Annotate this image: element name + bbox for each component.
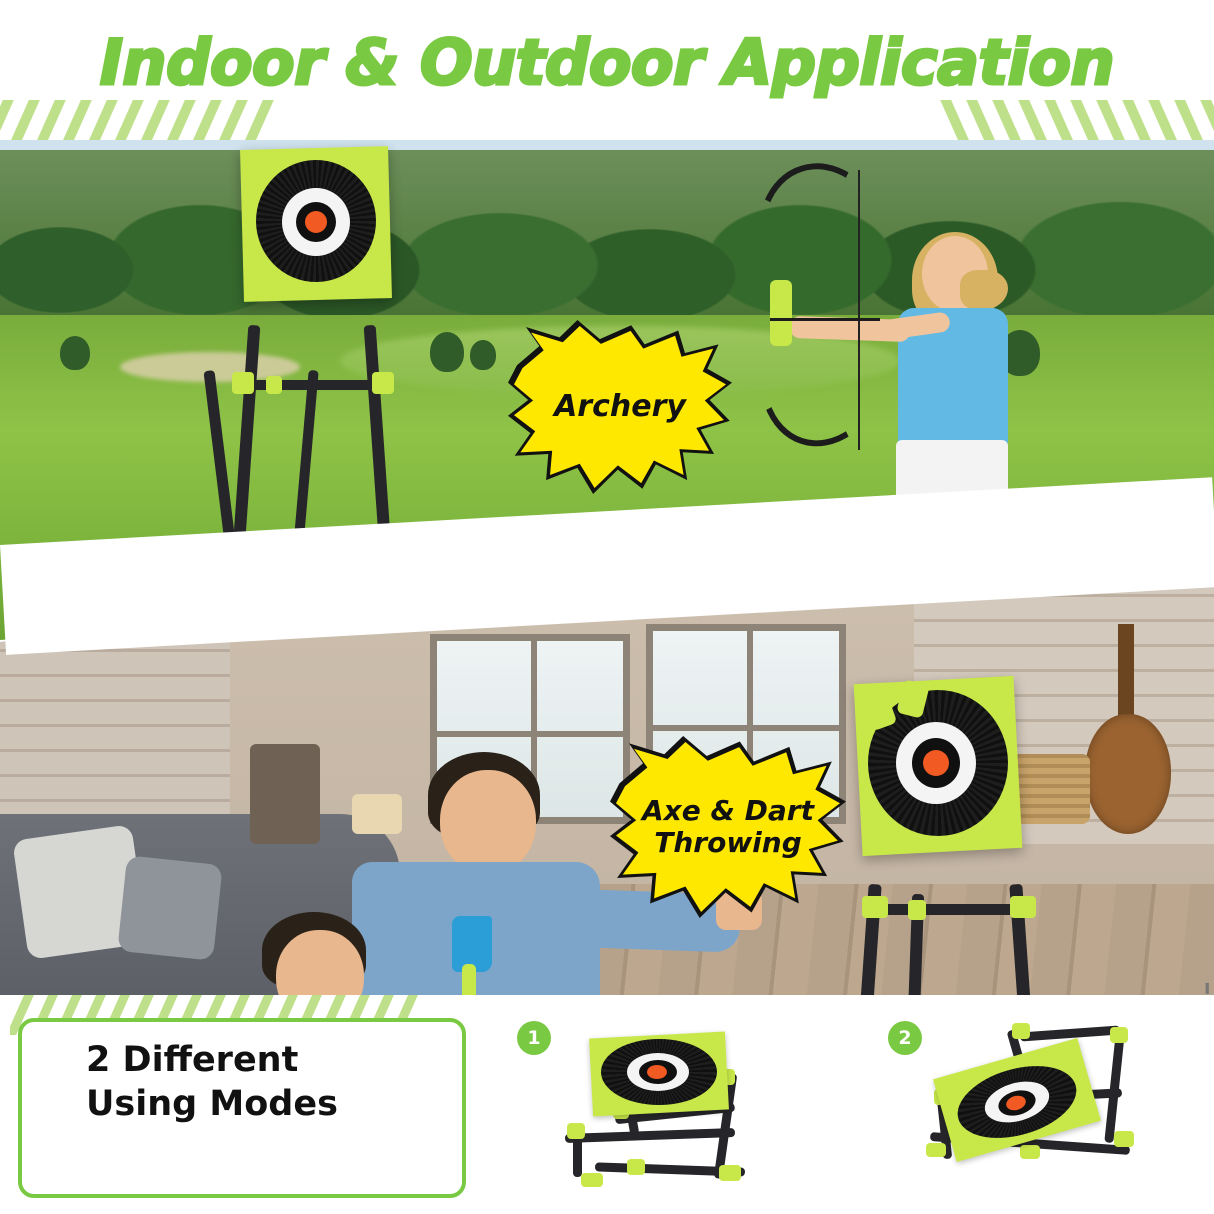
- guitar-neck: [1118, 624, 1134, 724]
- flower-vase: [352, 794, 402, 834]
- lantern: [250, 744, 320, 844]
- header-decoration-right: [924, 100, 1214, 140]
- header-banner: Indoor & Outdoor Application: [0, 0, 1214, 140]
- treeline: [0, 150, 1214, 340]
- shrub: [470, 340, 496, 370]
- photo-outdoor-archery: Archery: [0, 140, 1214, 640]
- photo-indoor-axe-dart: Axe & Dart Throwing ▌: [0, 564, 1214, 995]
- corner-watermark: ▌: [1206, 983, 1212, 993]
- header-decoration-left: [0, 100, 290, 140]
- callout-axe-dart-label: Axe & Dart Throwing: [610, 795, 846, 859]
- mode-2-badge: 2: [888, 1021, 922, 1055]
- target-bullseye: [305, 211, 327, 233]
- mode-1-badge: 1: [517, 1021, 551, 1055]
- page-title: Indoor & Outdoor Application: [0, 26, 1214, 99]
- wicker-basket: [1010, 754, 1090, 824]
- pillow: [117, 855, 223, 961]
- shrub: [60, 336, 90, 370]
- photo-collage: Archery: [0, 140, 1214, 995]
- guitar-body: [1085, 714, 1171, 834]
- mode-1-bullseye: [647, 1065, 667, 1079]
- mode-1-illustration: 1: [495, 1013, 845, 1203]
- callout-archery-label: Archery: [508, 390, 732, 425]
- modes-title: 2 Different Using Modes: [86, 1039, 416, 1127]
- target-bullseye: [923, 750, 949, 776]
- modes-section: 2 Different Using Modes 1 2: [0, 995, 1214, 1214]
- shrub: [430, 332, 464, 372]
- mode-2-illustration: 2: [870, 1013, 1214, 1203]
